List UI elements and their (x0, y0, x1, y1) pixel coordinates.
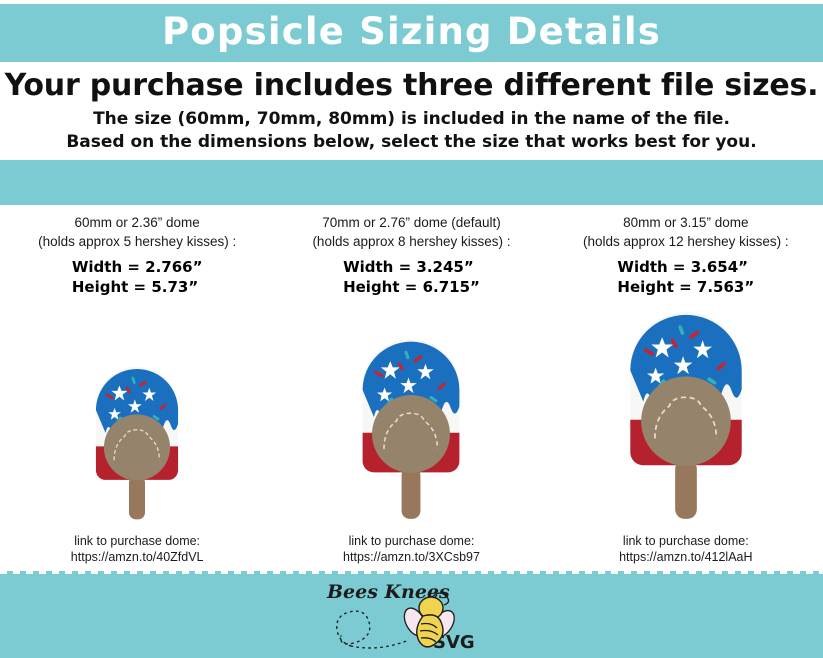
popsicle-illustration-wrap-70mm (274, 297, 548, 533)
link-label: link to purchase dome: (71, 533, 204, 549)
link-label: link to purchase dome: (619, 533, 752, 549)
popsicle-illustration-wrap-60mm (0, 297, 274, 533)
column-heading-60mm: 60mm or 2.36” dome (holds approx 5 hersh… (38, 213, 236, 251)
size-columns: 60mm or 2.36” dome (holds approx 5 hersh… (0, 207, 823, 571)
size-column-70mm: 70mm or 2.76” dome (default) (holds appr… (274, 207, 548, 571)
subtitle-main: Your purchase includes three different f… (0, 68, 823, 103)
width-row: Width = 3.654” (617, 257, 754, 277)
link-url[interactable]: https://amzn.to/412lAaH (619, 549, 752, 565)
height-label: Height (343, 278, 399, 296)
width-label: Width (343, 258, 393, 276)
size-column-80mm: 80mm or 3.15” dome (holds approx 12 hers… (549, 207, 823, 571)
bees-knees-svg-logo: Bees Knees SVG (311, 578, 511, 654)
heading-line-1: 60mm or 2.36” dome (38, 213, 236, 232)
link-label: link to purchase dome: (343, 533, 480, 549)
link-url[interactable]: https://amzn.to/40ZfdVL (71, 549, 204, 565)
popsicle-illustration-80mm (610, 304, 762, 521)
column-heading-80mm: 80mm or 3.15” dome (holds approx 12 hers… (583, 213, 789, 251)
heading-line-1: 80mm or 3.15” dome (583, 213, 789, 232)
height-label: Height (72, 278, 128, 296)
purchase-link-60mm[interactable]: link to purchase dome: https://amzn.to/4… (71, 533, 204, 571)
height-value: = 5.73” (134, 278, 199, 296)
height-row: Height = 7.563” (617, 277, 754, 297)
subtitle-line-1: The size (60mm, 70mm, 80mm) is included … (0, 109, 823, 129)
purchase-link-70mm[interactable]: link to purchase dome: https://amzn.to/3… (343, 533, 480, 571)
flight-path (337, 611, 370, 646)
link-url[interactable]: https://amzn.to/3XCsb97 (343, 549, 480, 565)
flight-path-tail (351, 640, 409, 648)
width-value: = 2.766” (127, 258, 202, 276)
width-label: Width (617, 258, 667, 276)
purchase-link-80mm[interactable]: link to purchase dome: https://amzn.to/4… (619, 533, 752, 571)
width-row: Width = 3.245” (343, 257, 480, 277)
height-row: Height = 6.715” (343, 277, 480, 297)
width-row: Width = 2.766” (72, 257, 203, 277)
footer-dashed-divider (0, 571, 823, 574)
height-value: = 6.715” (405, 278, 480, 296)
width-value: = 3.245” (399, 258, 474, 276)
heading-line-1: 70mm or 2.76” dome (default) (312, 213, 510, 232)
subtitle-line-2: Based on the dimensions below, select th… (0, 132, 823, 152)
heading-line-2: (holds approx 5 hershey kisses) : (38, 232, 236, 251)
width-label: Width (72, 258, 122, 276)
size-column-60mm: 60mm or 2.36” dome (holds approx 5 hersh… (0, 207, 274, 571)
width-value: = 3.654” (673, 258, 748, 276)
column-heading-70mm: 70mm or 2.76” dome (default) (holds appr… (312, 213, 510, 251)
height-value: = 7.563” (679, 278, 754, 296)
dimensions-60mm: Width = 2.766” Height = 5.73” (72, 257, 203, 297)
height-label: Height (617, 278, 673, 296)
popsicle-illustration-wrap-80mm (549, 297, 823, 533)
divider-band (0, 160, 823, 205)
brand-logo: Bees Knees SVG (311, 578, 511, 654)
heading-line-2: (holds approx 8 hershey kisses) : (312, 232, 510, 251)
height-row: Height = 5.73” (72, 277, 203, 297)
popsicle-sizing-infographic: Popsicle Sizing Details Your purchase in… (0, 0, 823, 658)
page-title: Popsicle Sizing Details (0, 6, 823, 58)
popsicle-illustration-70mm (345, 332, 477, 521)
dimensions-80mm: Width = 3.654” Height = 7.563” (617, 257, 754, 297)
heading-line-2: (holds approx 12 hershey kisses) : (583, 232, 789, 251)
dimensions-70mm: Width = 3.245” Height = 6.715” (343, 257, 480, 297)
popsicle-illustration-60mm (81, 361, 193, 521)
